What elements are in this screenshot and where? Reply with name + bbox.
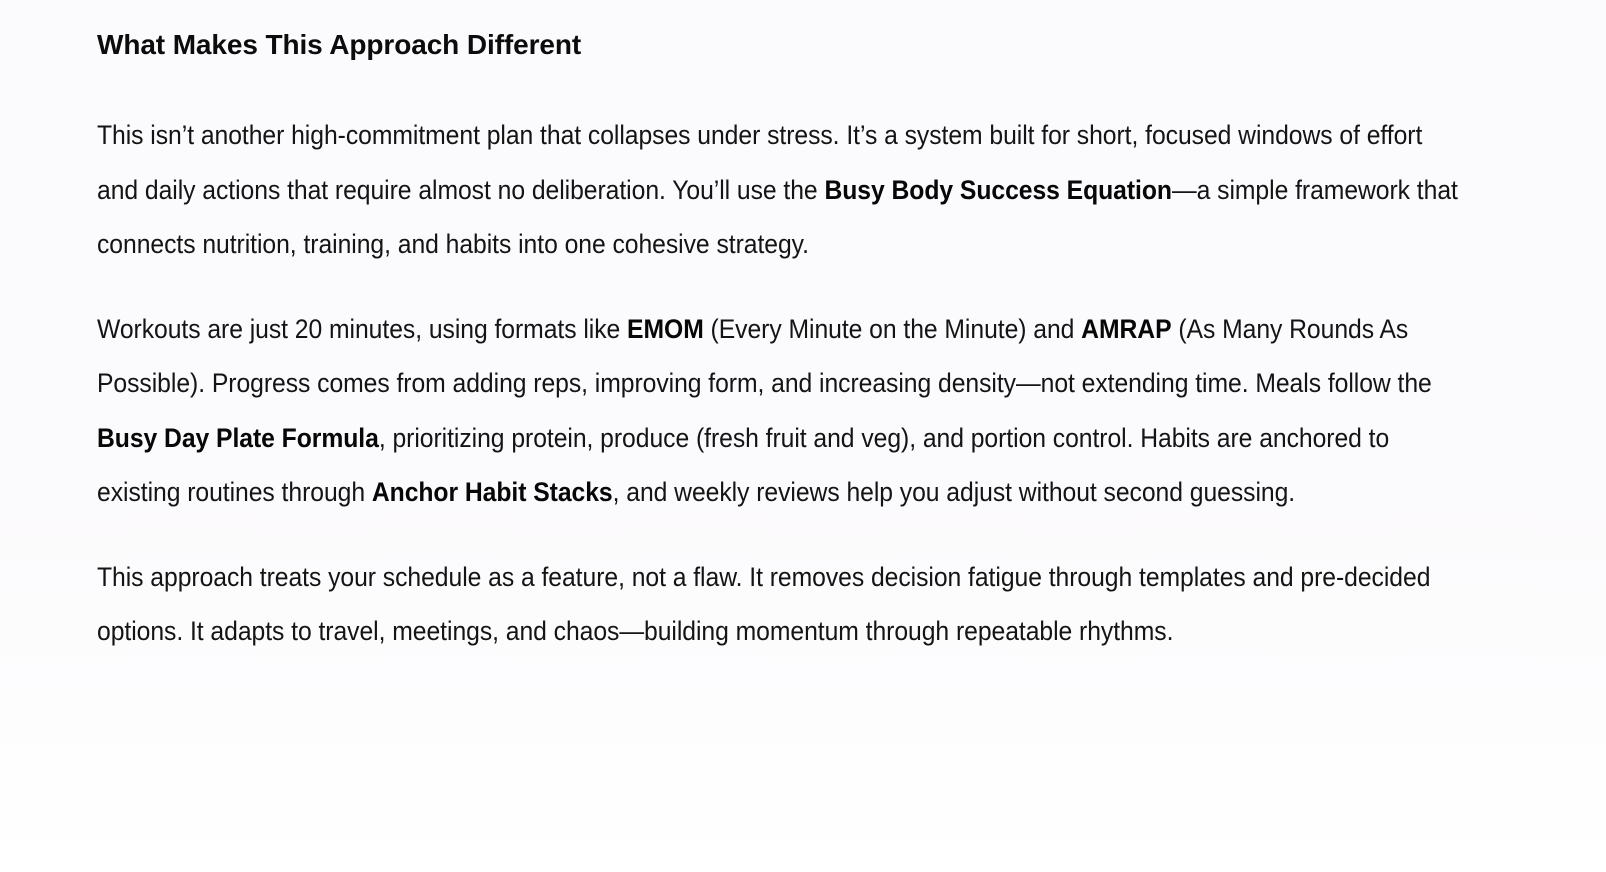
section-heading: What Makes This Approach Different	[97, 24, 1469, 66]
heading-spacer	[97, 66, 1469, 108]
emphasis-term: EMOM	[627, 314, 704, 344]
emphasis-term: Busy Day Plate Formula	[97, 423, 379, 453]
body-paragraph-3: This approach treats your schedule as a …	[97, 550, 1469, 659]
paragraph-spacer-1	[97, 272, 1469, 302]
emphasis-term: Busy Body Success Equation	[824, 175, 1172, 205]
content-column: What Makes This Approach Different This …	[97, 24, 1469, 659]
paragraph-spacer-2	[97, 520, 1469, 550]
emphasis-term: AMRAP	[1081, 314, 1171, 344]
emphasis-term: Anchor Habit Stacks	[372, 477, 613, 507]
article-page: What Makes This Approach Different This …	[0, 0, 1606, 872]
body-paragraph-1: This isn’t another high-commitment plan …	[97, 108, 1469, 272]
body-paragraph-2: Workouts are just 20 minutes, using form…	[97, 302, 1469, 520]
